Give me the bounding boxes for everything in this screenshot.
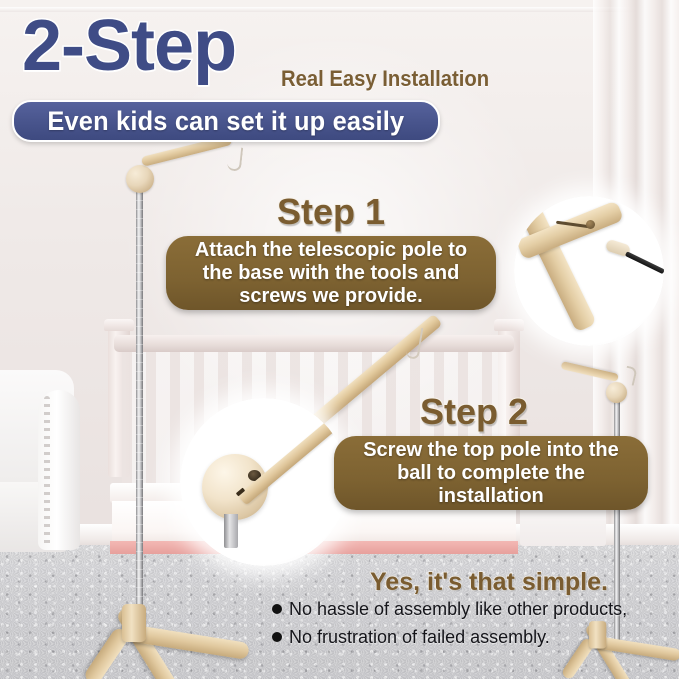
- wooden-ball-joint-2: [606, 382, 627, 403]
- benefit-text-2: No frustration of failed assembly.: [289, 626, 550, 649]
- footer-tagline: Yes, it's that simple.: [370, 568, 608, 596]
- benefit-text-1: No hassle of assembly like other product…: [289, 598, 627, 621]
- step-2-callout: Screw the top pole into the ball to comp…: [334, 436, 648, 510]
- bullet-dot-icon: [272, 604, 282, 614]
- step-1-callout: Attach the telescopic pole to the base w…: [166, 236, 496, 310]
- wooden-cross-base: [100, 588, 290, 679]
- list-item: No frustration of failed assembly.: [272, 626, 632, 649]
- screw-head-icon: [586, 220, 595, 229]
- kids-banner-text: Even kids can set it up easily: [48, 107, 405, 135]
- list-item: No hassle of assembly like other product…: [272, 598, 632, 621]
- kids-banner: Even kids can set it up easily: [12, 100, 440, 142]
- page-title: 2-Step: [22, 10, 236, 82]
- mobile-hook-icon: [227, 146, 243, 171]
- step-1-heading: Step 1: [277, 192, 385, 232]
- step1-inset-photo: [514, 196, 664, 346]
- wooden-ball-joint: [126, 165, 154, 193]
- infographic-canvas: 2-Step Real Easy Installation Even kids …: [0, 0, 679, 679]
- step-1-callout-text: Attach the telescopic pole to the base w…: [180, 239, 482, 308]
- bullet-dot-icon: [272, 632, 282, 642]
- base-hub: [122, 604, 146, 642]
- inset-metal-pole-stub: [224, 514, 238, 548]
- step2-inset-photo: [180, 398, 348, 566]
- allen-key-rod-icon: [625, 251, 664, 274]
- mobile-hook-icon-2: [623, 366, 638, 386]
- step-2-heading: Step 2: [420, 392, 528, 432]
- step-2-callout-text: Screw the top pole into the ball to comp…: [348, 439, 634, 508]
- crib-post-cap-right: [494, 319, 524, 331]
- armchair-stud-trim: [44, 396, 50, 546]
- armchair: [0, 362, 100, 562]
- pole-ridge-texture: [136, 200, 143, 640]
- page-subtitle: Real Easy Installation: [281, 67, 489, 91]
- benefit-list: No hassle of assembly like other product…: [272, 598, 632, 654]
